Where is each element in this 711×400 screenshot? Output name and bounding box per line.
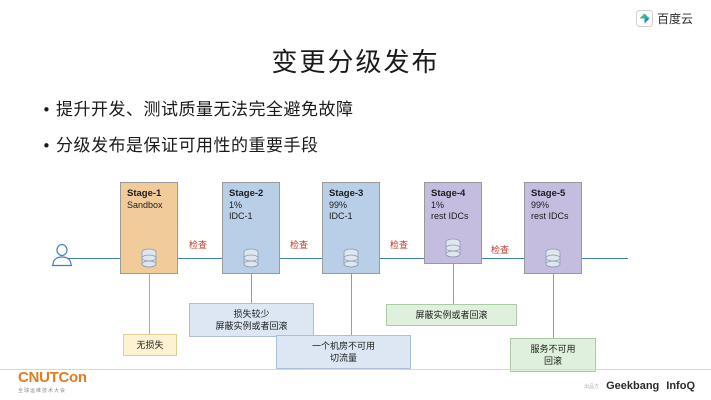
stage-title: Stage-3 (329, 188, 373, 200)
connector-stage4-note (453, 264, 454, 304)
stage-title: Stage-5 (531, 188, 575, 200)
check-label-3: 检查 (390, 238, 408, 251)
stage-box-3: Stage-3 99% IDC-1 (322, 182, 380, 274)
baidu-cloud-logo-icon (636, 10, 653, 27)
server-icon (241, 248, 261, 270)
brand-name: CNUTCon (18, 369, 87, 386)
stage-box-5: Stage-5 99% rest IDCs (524, 182, 582, 274)
note-service-down: 服务不可用 回滚 (510, 338, 596, 372)
check-label-2: 检查 (290, 238, 308, 251)
connector-stage2-note (251, 274, 252, 303)
slide: 百度云 变更分级发布 • 提升开发、测试质量无法完全避免故障 • 分级发布是保证… (0, 0, 711, 400)
server-icon (443, 238, 463, 260)
page-title: 变更分级发布 (0, 42, 711, 79)
stage-subtitle: 1% IDC-1 (229, 200, 273, 222)
stage-subtitle: Sandbox (127, 200, 171, 211)
brand-subtitle: 全球运维技术大会 (18, 387, 87, 394)
bullet-text: 提升开发、测试质量无法完全避免故障 (56, 100, 354, 120)
stage-box-2: Stage-2 1% IDC-1 (222, 182, 280, 274)
conference-brand: CNUTCon 全球运维技术大会 (18, 369, 87, 394)
note-isolate-or-rollback: 屏蔽实例或者回滚 (386, 304, 517, 326)
stage-subtitle: 99% IDC-1 (329, 200, 373, 222)
stage-title: Stage-2 (229, 188, 273, 200)
logo-text: 百度云 (657, 10, 693, 27)
connector-stage3-note (351, 274, 352, 335)
stage-title: Stage-4 (431, 188, 475, 200)
footer-partners: 出品方 Geekbang InfoQ (584, 380, 695, 392)
stage-box-4: Stage-4 1% rest IDCs (424, 182, 482, 264)
list-item: • 分级发布是保证可用性的重要手段 (42, 136, 642, 156)
connector-stage1-note (149, 274, 150, 336)
note-no-loss: 无损失 (123, 334, 177, 356)
stage-subtitle: 99% rest IDCs (531, 200, 575, 222)
partner-label: 出品方 (584, 383, 599, 390)
stage-subtitle: 1% rest IDCs (431, 200, 475, 222)
flow-line (68, 258, 628, 259)
server-icon (139, 248, 159, 270)
stage-box-1: Stage-1 Sandbox (120, 182, 178, 274)
bullet-marker: • (42, 136, 56, 156)
list-item: • 提升开发、测试质量无法完全避免故障 (42, 100, 642, 120)
check-label-4: 检查 (491, 243, 509, 256)
connector-stage5-note (553, 274, 554, 338)
check-label-1: 检查 (189, 238, 207, 251)
bullet-list: • 提升开发、测试质量无法完全避免故障 • 分级发布是保证可用性的重要手段 (42, 100, 642, 172)
footer-divider (0, 369, 711, 370)
bullet-text: 分级发布是保证可用性的重要手段 (56, 136, 319, 156)
brand-text: CNUTCon (18, 369, 87, 386)
server-icon (341, 248, 361, 270)
geekbang-logo: Geekbang (606, 380, 659, 392)
baidu-cloud-logo: 百度云 (636, 10, 693, 27)
server-icon (543, 248, 563, 270)
bullet-marker: • (42, 100, 56, 120)
user-icon (50, 244, 74, 272)
stage-title: Stage-1 (127, 188, 171, 200)
infoq-logo: InfoQ (666, 380, 695, 392)
note-one-idc-down: 一个机房不可用 切流量 (276, 335, 411, 369)
note-small-loss: 损失较少 屏蔽实例或者回滚 (189, 303, 314, 337)
